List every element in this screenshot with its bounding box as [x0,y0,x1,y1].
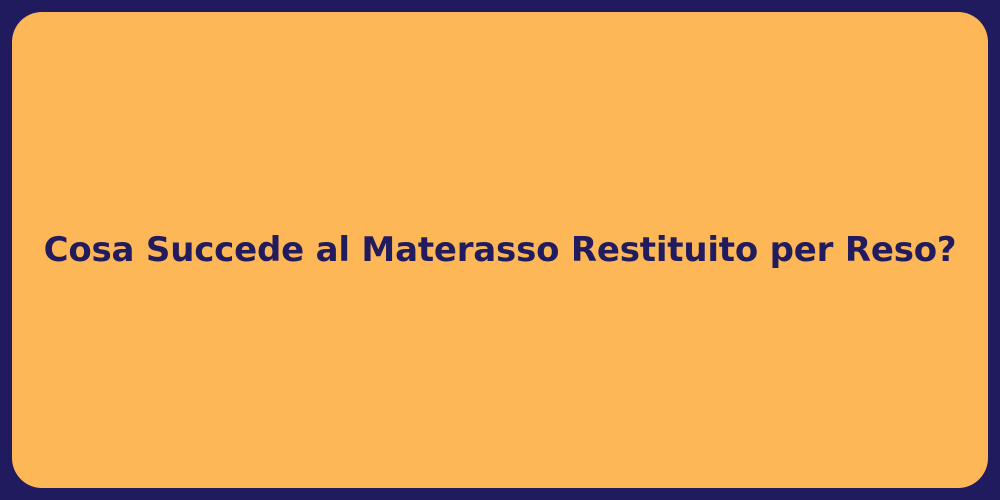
banner-frame: Cosa Succede al Materasso Restituito per… [0,0,1000,500]
banner-card: Cosa Succede al Materasso Restituito per… [12,12,988,488]
page-title: Cosa Succede al Materasso Restituito per… [44,229,957,272]
